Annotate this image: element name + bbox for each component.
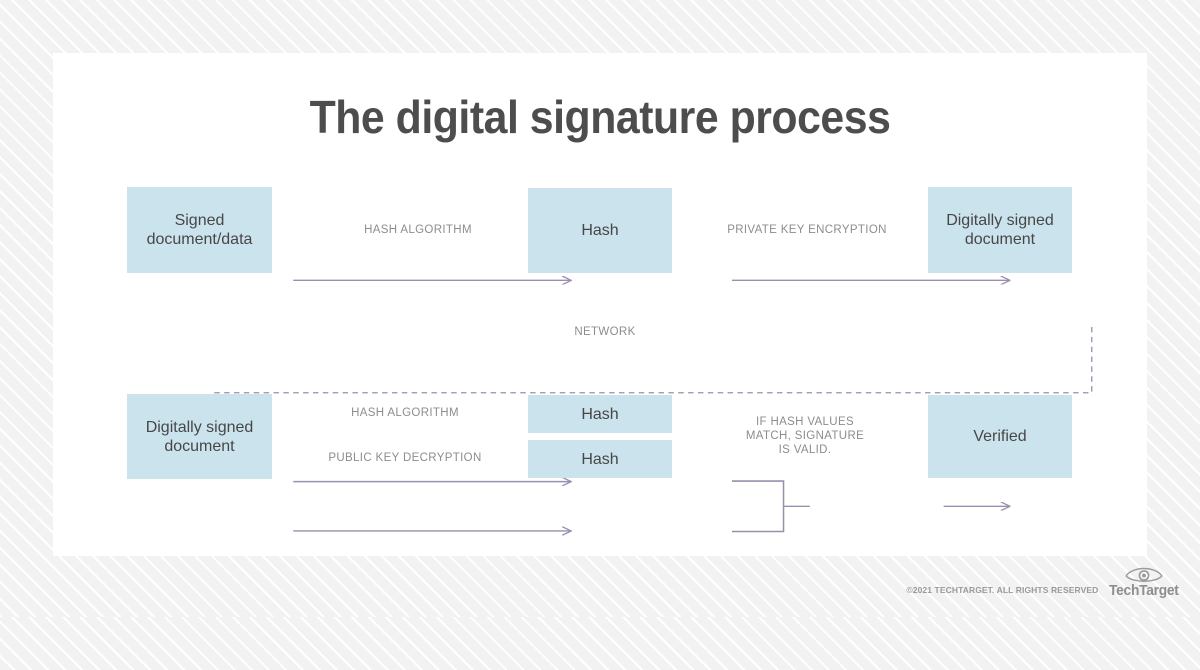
edge-label-private-key-encryption: PRIVATE KEY ENCRYPTION bbox=[708, 224, 906, 238]
copyright-text: ©2021 TECHTARGET. ALL RIGHTS RESERVED bbox=[906, 585, 1098, 599]
brand-name: TechTarget bbox=[1109, 582, 1179, 599]
edge-label-hash-algorithm-bottom: HASH ALGORITHM bbox=[320, 407, 490, 421]
node-hash-top[interactable]: Hash bbox=[528, 188, 672, 273]
diagram-canvas: The digital signature process bbox=[0, 0, 1200, 617]
techtarget-logo: TechTarget bbox=[1106, 564, 1182, 599]
node-digitally-signed-document-bottom[interactable]: Digitally signeddocument bbox=[127, 394, 272, 479]
edge-label-hash-algorithm-top: HASH ALGORITHM bbox=[333, 224, 503, 238]
edge-label-public-key-decryption: PUBLIC KEY DECRYPTION bbox=[310, 452, 500, 466]
node-hash-bottom-2[interactable]: Hash bbox=[528, 440, 672, 478]
node-hash-bottom-1[interactable]: Hash bbox=[528, 395, 672, 433]
node-hash-top-label: Hash bbox=[581, 221, 618, 240]
footer: ©2021 TECHTARGET. ALL RIGHTS RESERVED Te… bbox=[906, 564, 1182, 599]
node-verified-label: Verified bbox=[973, 427, 1026, 446]
node-hash-bottom-1-label: Hash bbox=[581, 405, 618, 424]
edge-label-hash-match: IF HASH VALUES MATCH, SIGNATURE IS VALID… bbox=[736, 415, 874, 457]
node-digitally-signed-document-bottom-label: Digitally signeddocument bbox=[146, 418, 254, 456]
node-signed-document-label: Signeddocument/data bbox=[147, 211, 253, 249]
eye-icon bbox=[1124, 564, 1164, 583]
node-digitally-signed-document-top-label: Digitally signeddocument bbox=[946, 211, 1054, 249]
node-verified[interactable]: Verified bbox=[928, 395, 1072, 478]
node-digitally-signed-document-top[interactable]: Digitally signeddocument bbox=[928, 187, 1072, 273]
bracket-hash-join bbox=[732, 481, 784, 531]
page-title: The digital signature process bbox=[91, 90, 1108, 144]
node-signed-document[interactable]: Signeddocument/data bbox=[127, 187, 272, 273]
diagram-card: The digital signature process bbox=[53, 53, 1147, 556]
edge-label-network: NETWORK bbox=[554, 326, 656, 340]
node-hash-bottom-2-label: Hash bbox=[581, 450, 618, 469]
